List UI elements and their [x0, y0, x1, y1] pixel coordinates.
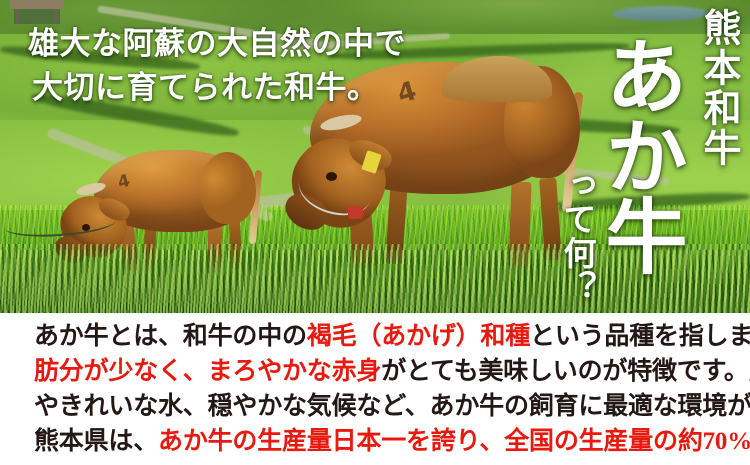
description-run-red: 肪分が少なく、まろやかな赤身	[34, 358, 381, 385]
cow-rump	[200, 152, 256, 224]
description-run-black: がとても美味しいのが特徴です。広大な草原	[381, 358, 750, 385]
description-line: 肪分が少なく、まろやかな赤身がとても美味しいのが特徴です。広大な草原	[34, 354, 724, 389]
description-lines: あか牛とは、和牛の中の褐毛（あかげ）和種という品種を指します。無駄な脂 肪分が少…	[34, 319, 724, 459]
description-run-black: やきれいな水、穏やかな気候など、あか牛の飼育に最適な環境が揃っている	[34, 393, 750, 420]
vertical-question-tte-nani: って何？	[552, 168, 600, 304]
pasture-photo: 4 4	[0, 0, 750, 313]
barn-post	[16, 9, 19, 24]
description-run-black: 熊本県は、	[34, 428, 158, 455]
barn-shelter	[10, 0, 64, 24]
headline-line-1: 雄大な阿蘇の大自然の中で	[28, 22, 406, 66]
description-line: 熊本県は、あか牛の生産量日本一を誇り、全国の生産量の約70%を占めます。	[34, 424, 724, 459]
barn-roof	[10, 0, 64, 9]
description-block: あか牛とは、和牛の中の褐毛（あかげ）和種という品種を指します。無駄な脂 肪分が少…	[0, 313, 750, 465]
description-run-red: あか牛の生産量日本一を誇り、全国の生産量の約70%を占めます。	[158, 428, 750, 455]
description-run-red: 褐毛（あかげ）和種	[307, 323, 530, 350]
description-line: あか牛とは、和牛の中の褐毛（あかげ）和種という品種を指します。無駄な脂	[34, 319, 724, 354]
description-run-black: あか牛とは、和牛の中の	[34, 323, 307, 350]
headline-line-2: 大切に育てられた和牛。	[32, 66, 406, 110]
description-run-black: という品種を指します。	[530, 323, 750, 350]
akaushi-promo-banner: 4 4	[0, 0, 750, 465]
headline: 雄大な阿蘇の大自然の中で 大切に育てられた和牛。	[28, 22, 406, 110]
vertical-label-kumamoto-wagyu: 熊本和牛	[691, 8, 746, 168]
cow-neck-bell	[348, 206, 363, 219]
description-line: やきれいな水、穏やかな気候など、あか牛の飼育に最適な環境が揃っている	[34, 389, 724, 424]
